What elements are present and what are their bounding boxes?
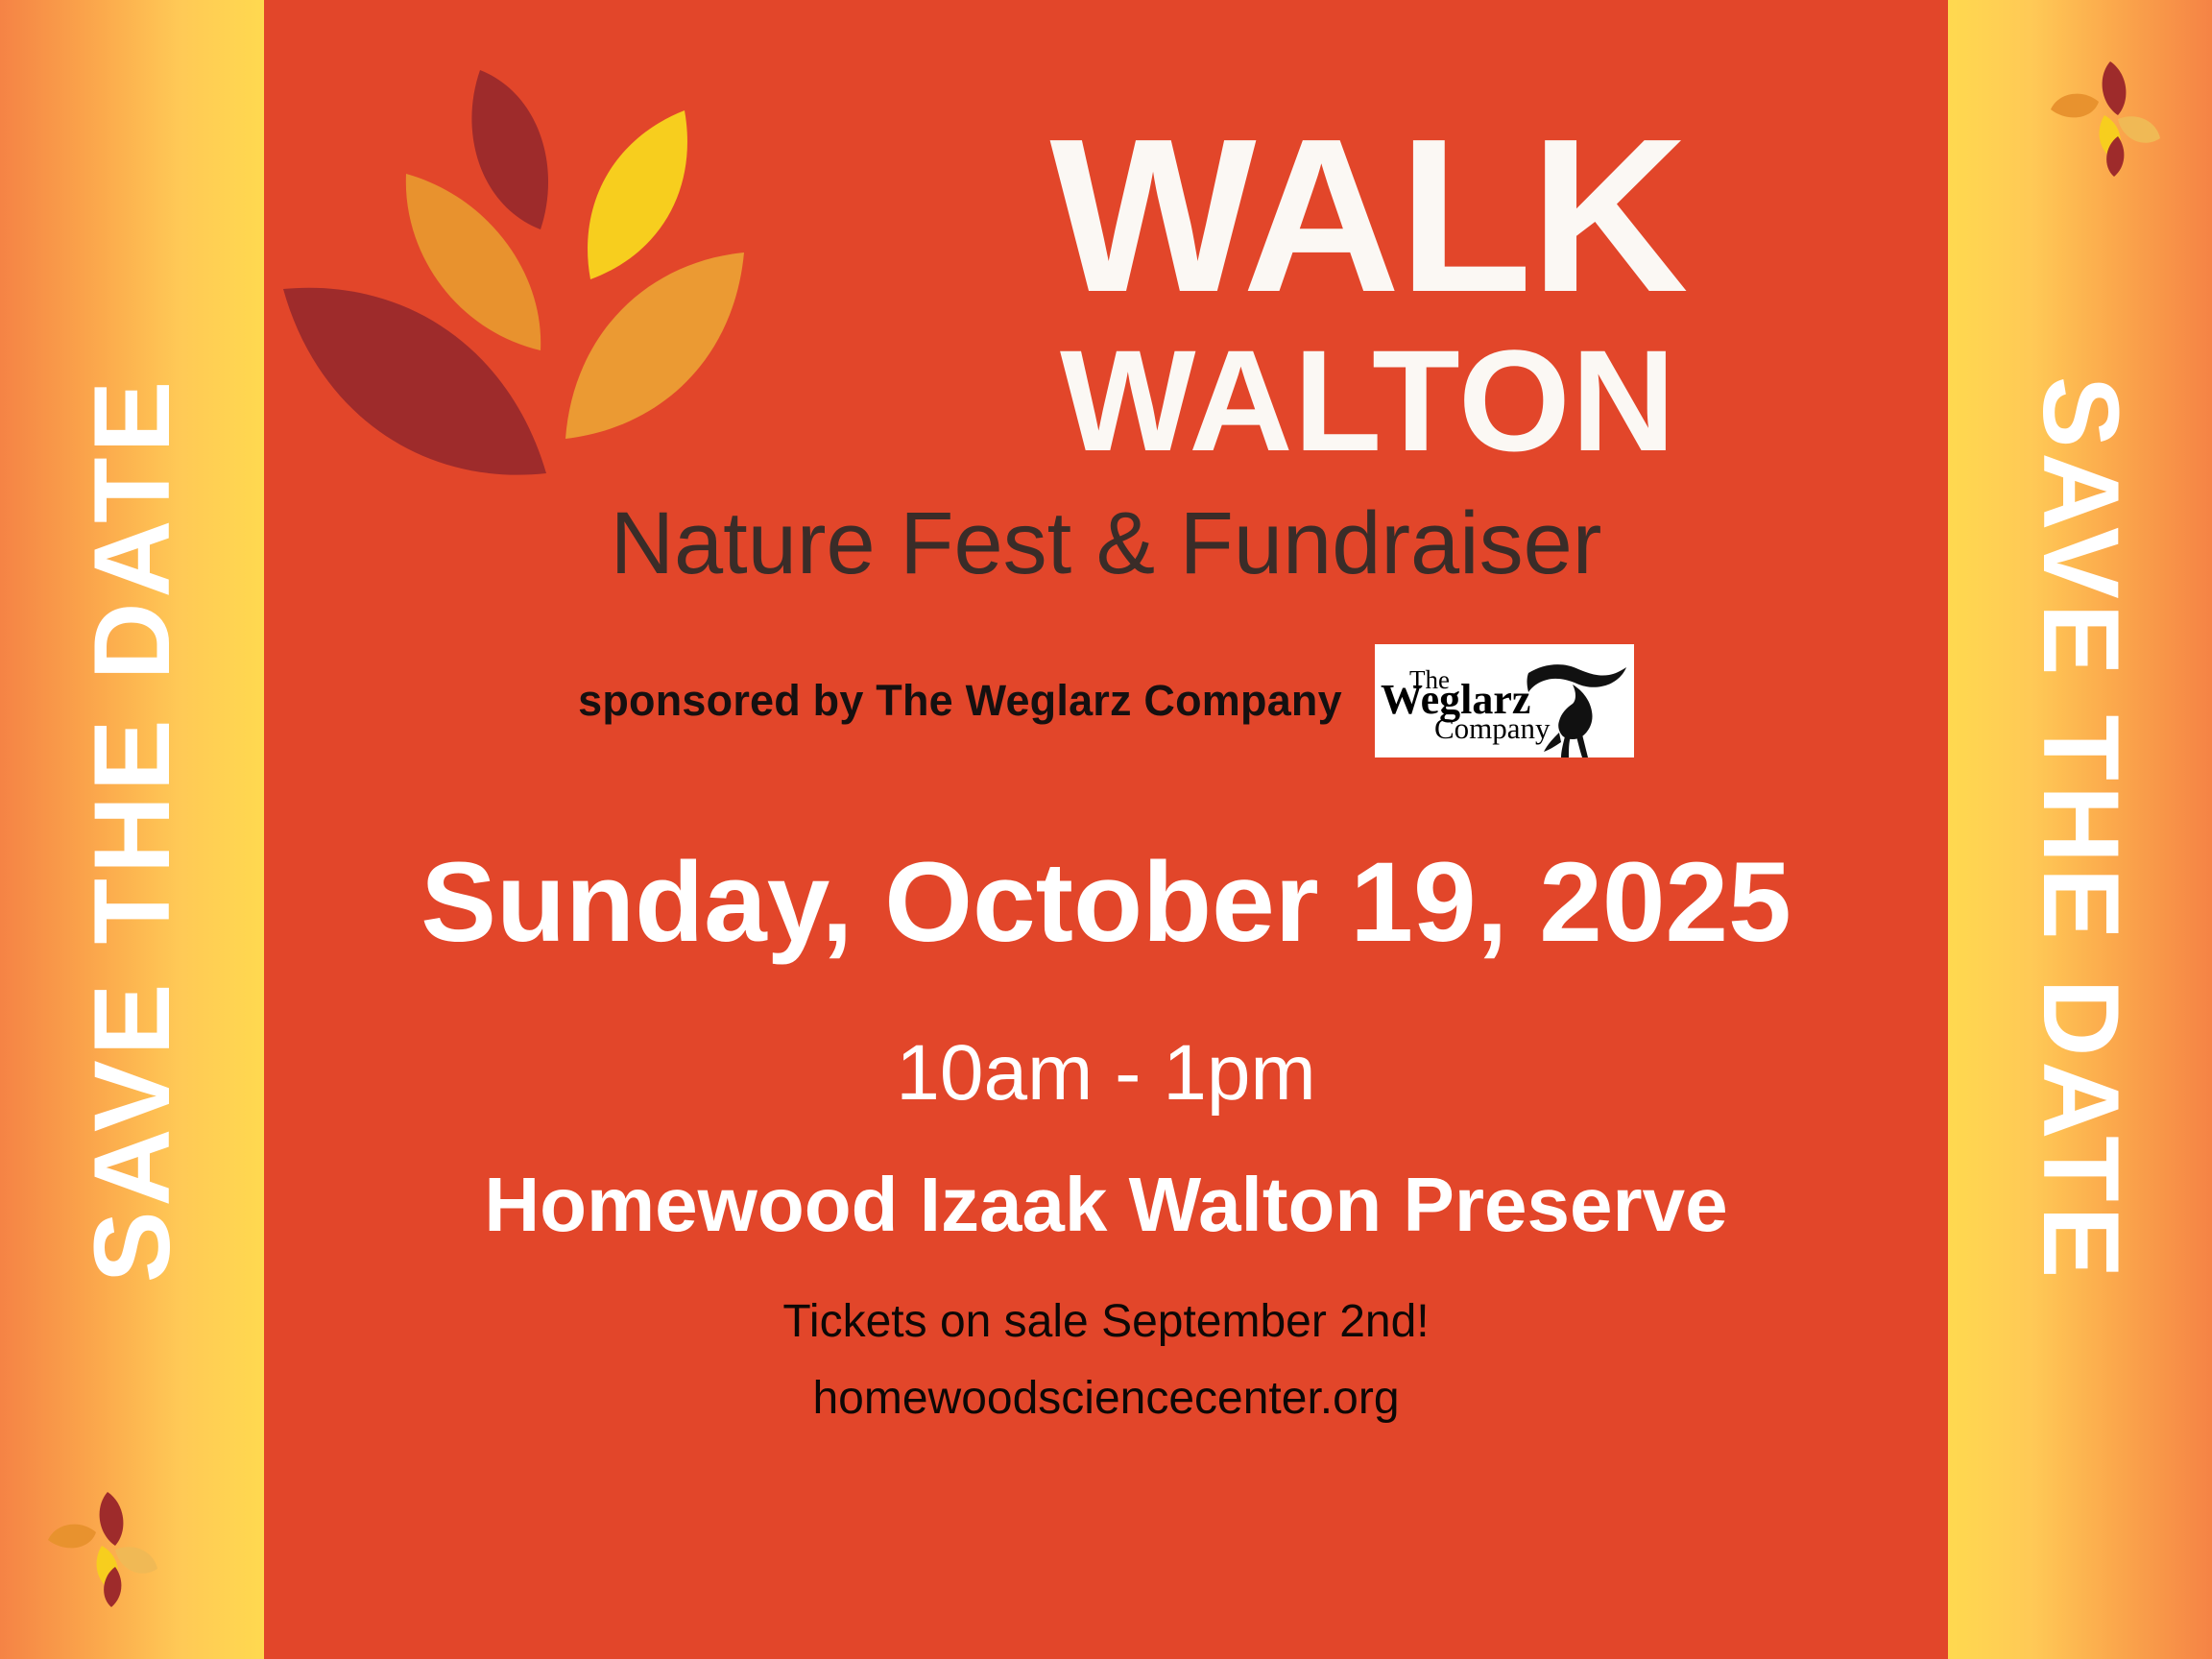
logo-and-title-row: WALK WALTON <box>264 0 1948 480</box>
event-title-block: WALK WALTON <box>859 113 1877 478</box>
right-save-the-date-banner: SAVE THE DATE <box>1948 0 2212 1659</box>
website-url[interactable]: homewoodsciencecenter.org <box>812 1376 1399 1422</box>
flyer-main-panel: WALK WALTON Nature Fest & Fundraiser spo… <box>264 0 1948 1659</box>
left-save-the-date-banner: SAVE THE DATE <box>0 0 264 1659</box>
event-flyer: SAVE THE DATE <box>0 0 2212 1659</box>
left-banner-label: SAVE THE DATE <box>79 376 186 1283</box>
sponsor-row: sponsored by The Weglarz Company The Weg… <box>578 644 1634 757</box>
title-line-walk: WALK <box>859 113 1877 319</box>
event-tagline: Nature Fest & Fundraiser <box>611 497 1602 590</box>
right-banner-label: SAVE THE DATE <box>2027 376 2134 1283</box>
leaf-sprig-icon <box>2035 44 2179 188</box>
tickets-on-sale-note: Tickets on sale September 2nd! <box>782 1299 1429 1345</box>
leaf-cluster-icon <box>283 51 744 502</box>
title-line-walton: WALTON <box>859 323 1877 478</box>
svg-text:Company: Company <box>1434 711 1551 745</box>
weglarz-company-logo: The Weglarz Company <box>1375 644 1634 757</box>
leaf-sprig-icon <box>33 1475 177 1619</box>
sponsor-label: sponsored by The Weglarz Company <box>578 676 1342 726</box>
event-time: 10am - 1pm <box>896 1034 1316 1113</box>
event-venue: Homewood Izaak Walton Preserve <box>484 1166 1727 1243</box>
event-date: Sunday, October 19, 2025 <box>421 846 1791 959</box>
